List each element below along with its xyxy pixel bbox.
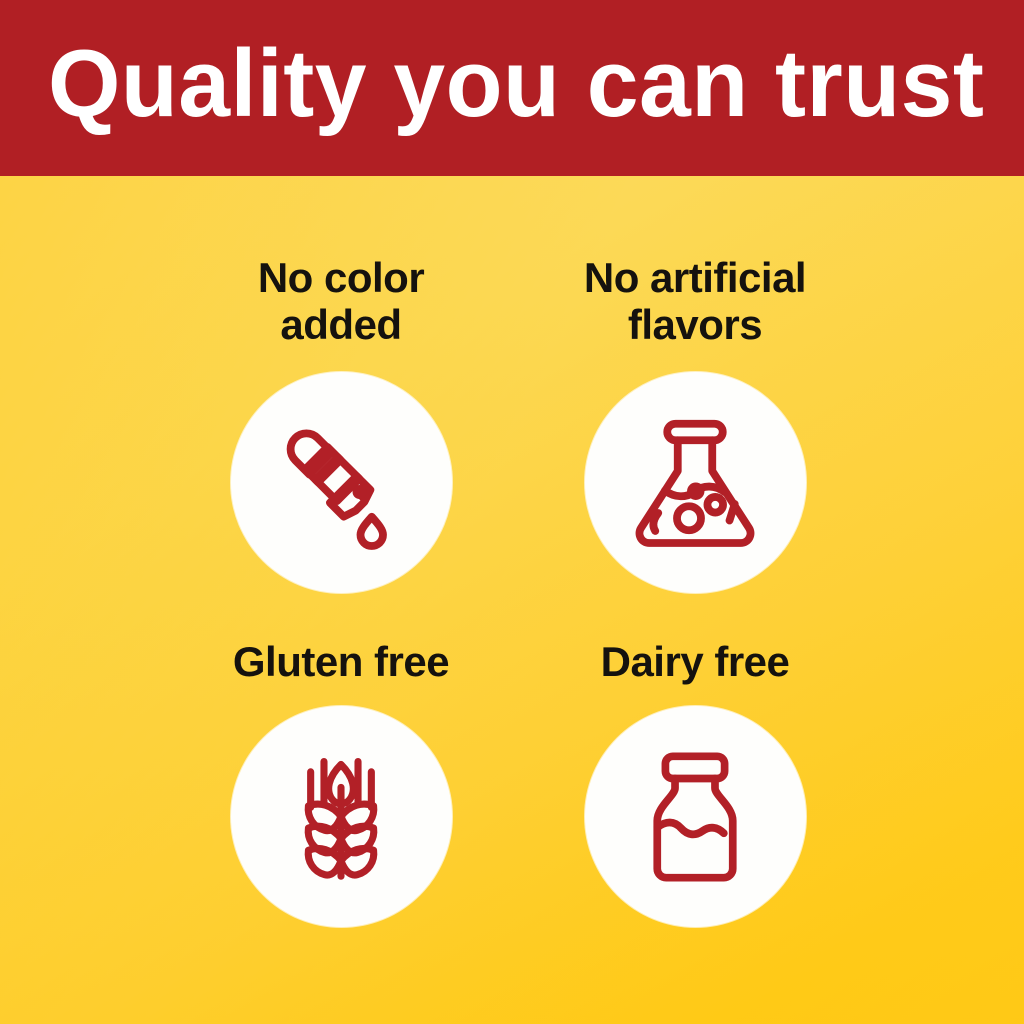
badge-disc <box>231 706 452 927</box>
badge-no-artificial-flavors: No artificial flavors <box>475 254 915 593</box>
background-stage: No color added <box>0 176 1024 1024</box>
badge-disc <box>585 372 806 593</box>
header-band: Quality you can trust <box>0 0 1024 176</box>
badge-label: No color added <box>176 254 506 348</box>
badge-label: No artificial flavors <box>530 254 860 348</box>
badge-disc <box>231 372 452 593</box>
milk-bottle-icon <box>621 743 769 891</box>
badge-disc <box>585 706 806 927</box>
dropper-icon <box>266 408 416 558</box>
wheat-icon <box>267 743 415 891</box>
quality-claims-banner: Quality you can trust No color added <box>0 0 1024 1024</box>
flask-icon <box>620 408 770 558</box>
badge-label: Dairy free <box>495 638 895 685</box>
badge-dairy-free: Dairy free <box>475 638 915 927</box>
badge-grid: No color added <box>0 176 1024 1024</box>
page-title: Quality you can trust <box>48 28 960 140</box>
